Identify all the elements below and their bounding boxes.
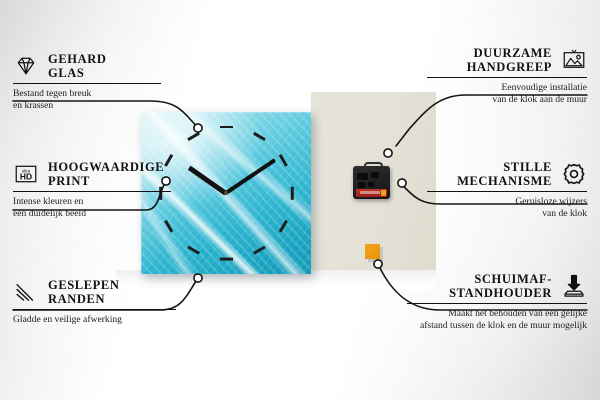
battery-label-strip	[360, 191, 380, 194]
feature-desc-line1: Gladde en veilige afwerking	[13, 314, 188, 326]
battery-plus-terminal	[381, 190, 386, 196]
movement-detail	[368, 182, 374, 187]
feature-divider	[13, 309, 176, 310]
feature-desc-line2: van de klok	[427, 208, 587, 220]
clock-tick	[291, 186, 294, 199]
feature-title-line1: GESLEPEN	[48, 278, 120, 292]
feature-hoogwaardige-print: ultra HD HOOGWAARDIGE PRINT Intense kleu…	[13, 160, 183, 219]
feature-divider	[427, 77, 587, 78]
feature-title-line2: HANDGREEP	[427, 60, 552, 74]
diamond-icon	[13, 53, 39, 79]
feature-title-line1: GEHARD	[48, 52, 106, 66]
foam-spacer	[365, 244, 380, 259]
feature-title-line2: STANDHOUDER	[407, 286, 552, 300]
feature-title-line2: RANDEN	[48, 292, 120, 306]
down-arrow-pad-icon	[561, 273, 587, 299]
feature-title-line1: DUURZAME	[427, 46, 552, 60]
feature-divider	[13, 83, 161, 84]
feature-heading: GEHARD GLAS	[13, 52, 173, 80]
feature-divider	[407, 303, 587, 304]
feature-schuimafstandhouder: SCHUIMAF- STANDHOUDER Maakt het behouden…	[407, 272, 587, 331]
feature-desc-line1: Intense kleuren en	[13, 196, 183, 208]
gear-icon	[561, 161, 587, 187]
feature-heading: GESLEPEN RANDEN	[13, 278, 188, 306]
clock-movement-mechanism	[353, 166, 390, 199]
clock-tick	[220, 258, 233, 261]
feature-desc-line2: en krassen	[13, 100, 173, 112]
feature-title-line1: STILLE	[427, 160, 552, 174]
picture-frame-icon	[561, 47, 587, 73]
movement-detail	[371, 172, 379, 178]
bevelled-edges-icon	[13, 279, 39, 305]
clock-tick	[220, 126, 233, 129]
feature-divider	[13, 191, 171, 192]
feature-desc-line1: Bestand tegen breuk	[13, 88, 173, 100]
feature-desc-line1: Maakt het behouden van een gelijke	[407, 308, 587, 320]
movement-battery	[356, 189, 387, 197]
feature-title-line2: PRINT	[48, 174, 164, 188]
infographic-canvas: GEHARD GLAS Bestand tegen breuk en krass…	[0, 0, 600, 400]
movement-detail	[358, 182, 365, 188]
feature-desc-line1: Geruisloze wijzers	[427, 196, 587, 208]
feature-heading: ultra HD HOOGWAARDIGE PRINT	[13, 160, 183, 188]
feature-duurzame-handgreep: DUURZAME HANDGREEP Eenvoudige installati…	[427, 46, 587, 105]
feature-title-line2: GLAS	[48, 66, 106, 80]
feature-desc-line2: een duidelijk beeld	[13, 208, 183, 220]
ultra-hd-icon-main-text: HD	[20, 171, 32, 181]
feature-stille-mechanisme: STILLE MECHANISME Geruisloze wijzers van…	[427, 160, 587, 219]
ultra-hd-icon: ultra HD	[13, 161, 39, 187]
feature-desc-line2: afstand tussen de klok en de muur mogeli…	[407, 320, 587, 332]
feature-heading: DUURZAME HANDGREEP	[427, 46, 587, 74]
feature-heading: STILLE MECHANISME	[427, 160, 587, 188]
feature-desc-line1: Eenvoudige installatie	[427, 82, 587, 94]
feature-gehard-glas: GEHARD GLAS Bestand tegen breuk en krass…	[13, 52, 173, 111]
feature-title-line1: HOOGWAARDIGE	[48, 160, 164, 174]
feature-geslepen-randen: GESLEPEN RANDEN Gladde en veilige afwerk…	[13, 278, 188, 326]
feature-heading: SCHUIMAF- STANDHOUDER	[407, 272, 587, 300]
feature-title-line1: SCHUIMAF-	[407, 272, 552, 286]
feature-desc-line2: van de klok aan de muur	[427, 94, 587, 106]
movement-detail	[357, 173, 368, 180]
feature-title-line2: MECHANISME	[427, 174, 552, 188]
clock-center-hub	[224, 191, 228, 195]
movement-hanger-icon	[364, 162, 383, 171]
feature-divider	[427, 191, 587, 192]
